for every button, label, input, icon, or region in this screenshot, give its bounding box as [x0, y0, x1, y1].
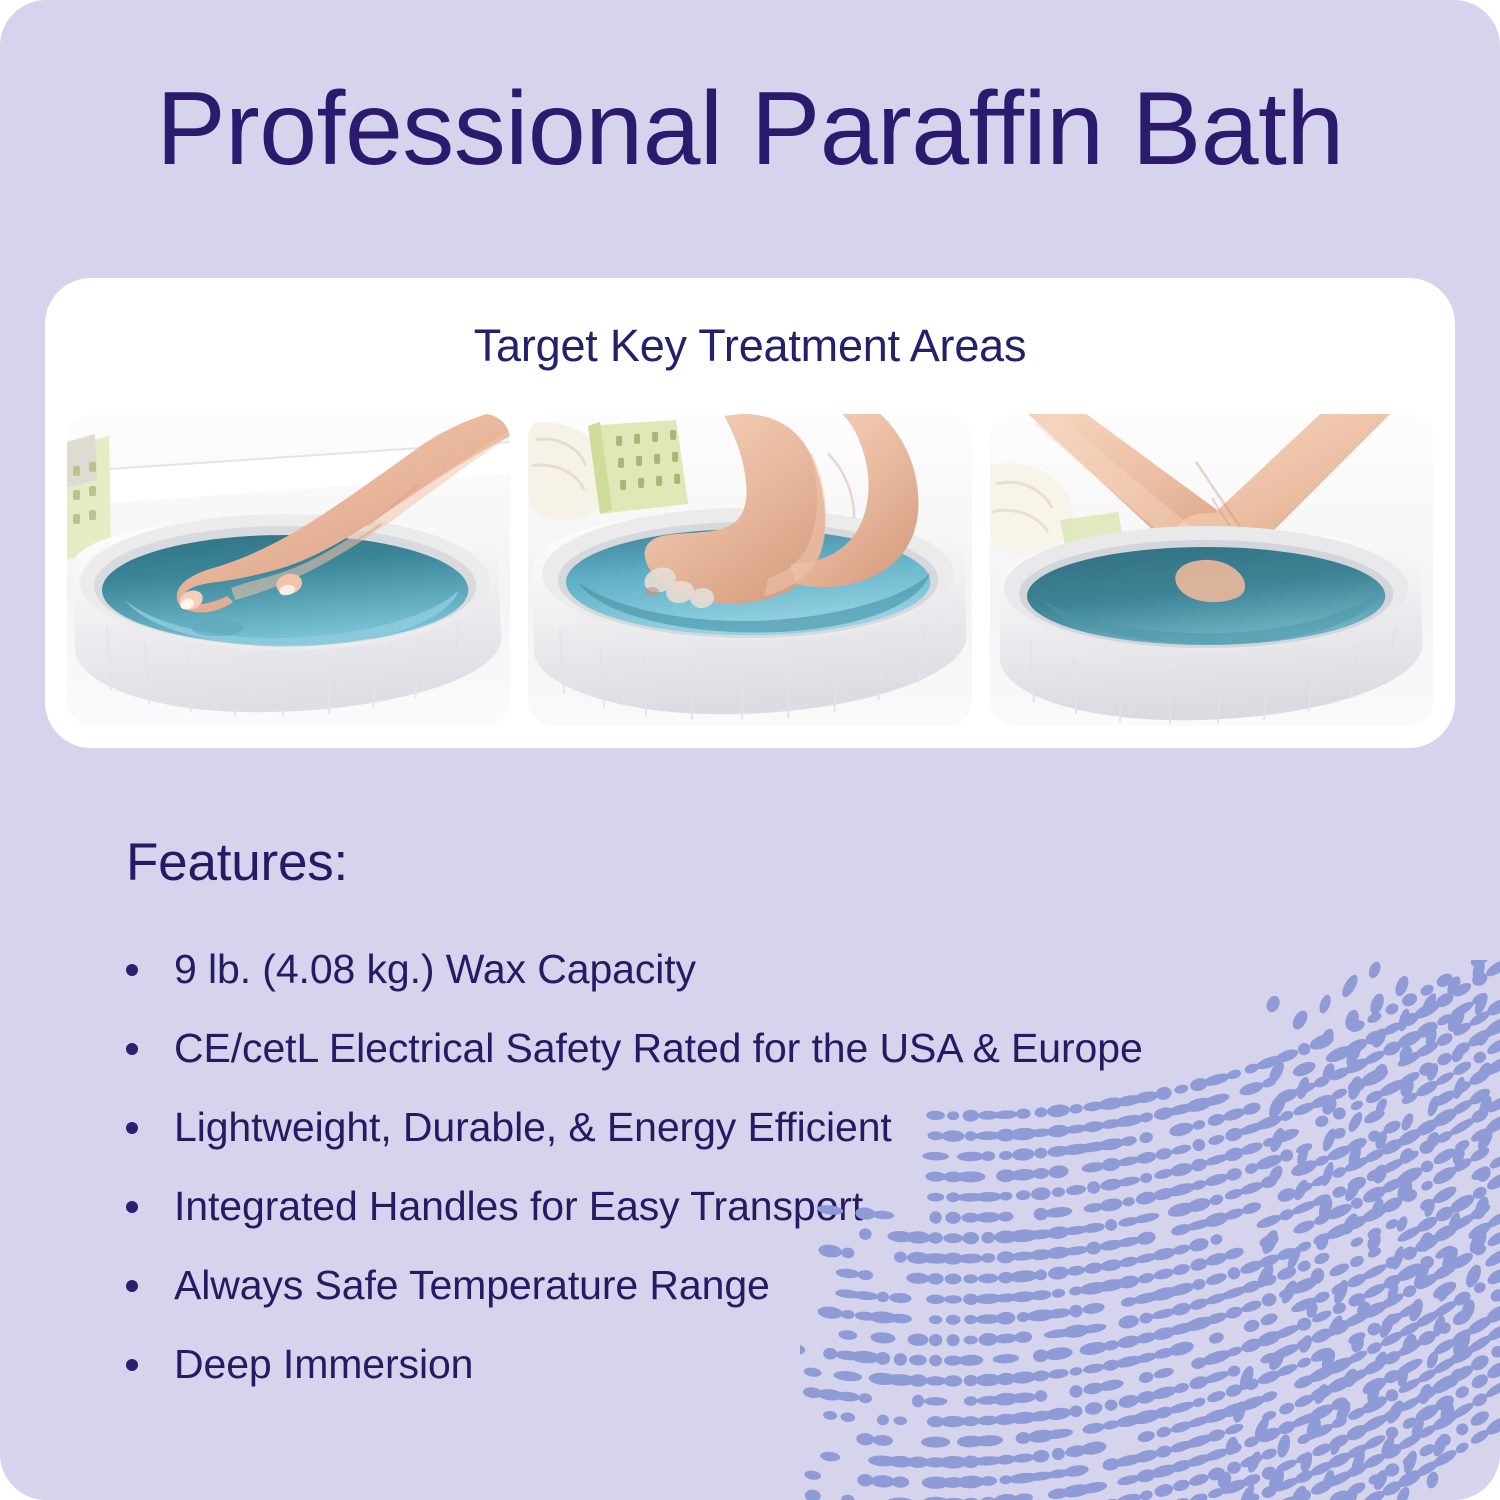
feature-item: CE/cetL Electrical Safety Rated for the …: [118, 1009, 1298, 1088]
lavender-panel: Professional Paraffin Bath Target Key Tr…: [0, 0, 1500, 1500]
feature-label: CE/cetL Electrical Safety Rated for the …: [174, 1025, 1143, 1072]
bullet-icon: [126, 1359, 138, 1371]
feature-item: 9 lb. (4.08 kg.) Wax Capacity: [118, 930, 1298, 1009]
feature-label: 9 lb. (4.08 kg.) Wax Capacity: [174, 946, 696, 993]
feature-item: Integrated Handles for Easy Transport: [118, 1167, 1298, 1246]
foot-in-bath-illustration: [528, 414, 971, 726]
photo-hand-in-paraffin-bath: [67, 414, 510, 726]
treatment-areas-card: Target Key Treatment Areas: [45, 278, 1455, 748]
feature-label: Lightweight, Durable, & Energy Efficient: [174, 1104, 892, 1151]
infographic-page: Professional Paraffin Bath Target Key Tr…: [0, 0, 1500, 1500]
features-list: 9 lb. (4.08 kg.) Wax Capacity CE/cetL El…: [118, 930, 1298, 1404]
feature-label: Integrated Handles for Easy Transport: [174, 1183, 863, 1230]
elbow-in-bath-illustration: [990, 414, 1433, 726]
feature-item: Lightweight, Durable, & Energy Efficient: [118, 1088, 1298, 1167]
features-heading: Features:: [126, 832, 348, 893]
bullet-icon: [126, 1201, 138, 1213]
photo-elbow-in-paraffin-bath: [990, 414, 1433, 726]
bullet-icon: [126, 1280, 138, 1292]
hand-in-bath-illustration: [67, 414, 510, 726]
feature-item: Deep Immersion: [118, 1325, 1298, 1404]
photo-row: [67, 414, 1433, 726]
feature-item: Always Safe Temperature Range: [118, 1246, 1298, 1325]
page-title: Professional Paraffin Bath: [0, 74, 1500, 184]
feature-label: Always Safe Temperature Range: [174, 1262, 770, 1309]
bullet-icon: [126, 964, 138, 976]
feature-label: Deep Immersion: [174, 1341, 473, 1388]
photo-foot-in-paraffin-bath: [528, 414, 971, 726]
card-title: Target Key Treatment Areas: [45, 278, 1455, 372]
bullet-icon: [126, 1043, 138, 1055]
bullet-icon: [126, 1122, 138, 1134]
